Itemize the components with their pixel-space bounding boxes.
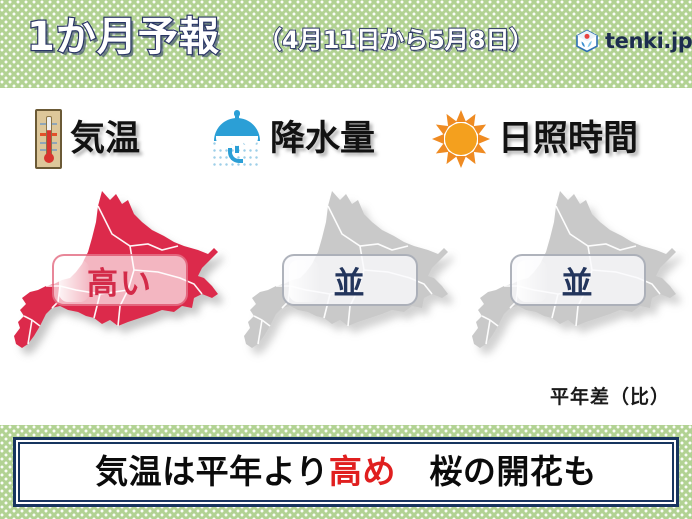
map-temperature[interactable]: 高い: [2, 186, 232, 386]
metric-label-sunshine: 日照時間: [498, 119, 638, 159]
footnote-normal-deviation: 平年差（比）: [550, 382, 670, 409]
summary-box-inner: 気温は平年より高め 桜の開花も: [18, 442, 674, 502]
metric-heading-precipitation: 降水量: [212, 100, 375, 178]
page-title: 1か月予報: [27, 10, 220, 64]
summary-box: 気温は平年より高め 桜の開花も: [13, 437, 679, 507]
summary-text-before: 気温は平年より: [95, 452, 329, 491]
metric-label-precipitation: 降水量: [270, 119, 375, 159]
forecast-badge-sunshine: 並: [510, 254, 646, 306]
forecast-badge-label-temperature: 高い: [87, 258, 153, 303]
metric-heading-sunshine: 日照時間: [432, 100, 638, 178]
summary-text: 気温は平年より高め 桜の開花も: [95, 452, 597, 492]
header-content: 1か月予報 （4月11日から5月8日） tenki.jp: [0, 0, 692, 88]
logo-wordmark: tenki.jp: [605, 30, 692, 52]
map-precipitation[interactable]: 並: [232, 186, 462, 386]
infographic-page: 1か月予報 （4月11日から5月8日） tenki.jp: [0, 0, 692, 519]
map-sunshine[interactable]: 並: [460, 186, 690, 386]
metric-label-temperature: 気温: [70, 119, 140, 159]
summary-text-after: 桜の開花も: [396, 452, 597, 491]
thermometer-icon: [35, 109, 62, 169]
sun-icon: [432, 110, 490, 168]
tenki-jp-logo[interactable]: tenki.jp: [575, 29, 692, 53]
tenki-cube-logo-icon: [575, 29, 599, 53]
metric-heading-temperature: 気温: [35, 100, 140, 178]
forecast-map-row: 高い: [0, 186, 692, 386]
forecast-badge-label-precipitation: 並: [334, 258, 367, 303]
header-band: 1か月予報 （4月11日から5月8日） tenki.jp: [0, 0, 692, 88]
forecast-period: （4月11日から5月8日）: [258, 21, 534, 59]
forecast-badge-label-sunshine: 並: [562, 258, 595, 303]
summary-text-highlight: 高め: [329, 452, 396, 491]
summary-band: 気温は平年より高め 桜の開花も: [0, 425, 692, 519]
umbrella-rain-icon: [212, 108, 262, 170]
forecast-badge-temperature: 高い: [52, 254, 188, 306]
metric-heading-row: 気温 降水量: [0, 100, 692, 178]
forecast-badge-precipitation: 並: [282, 254, 418, 306]
